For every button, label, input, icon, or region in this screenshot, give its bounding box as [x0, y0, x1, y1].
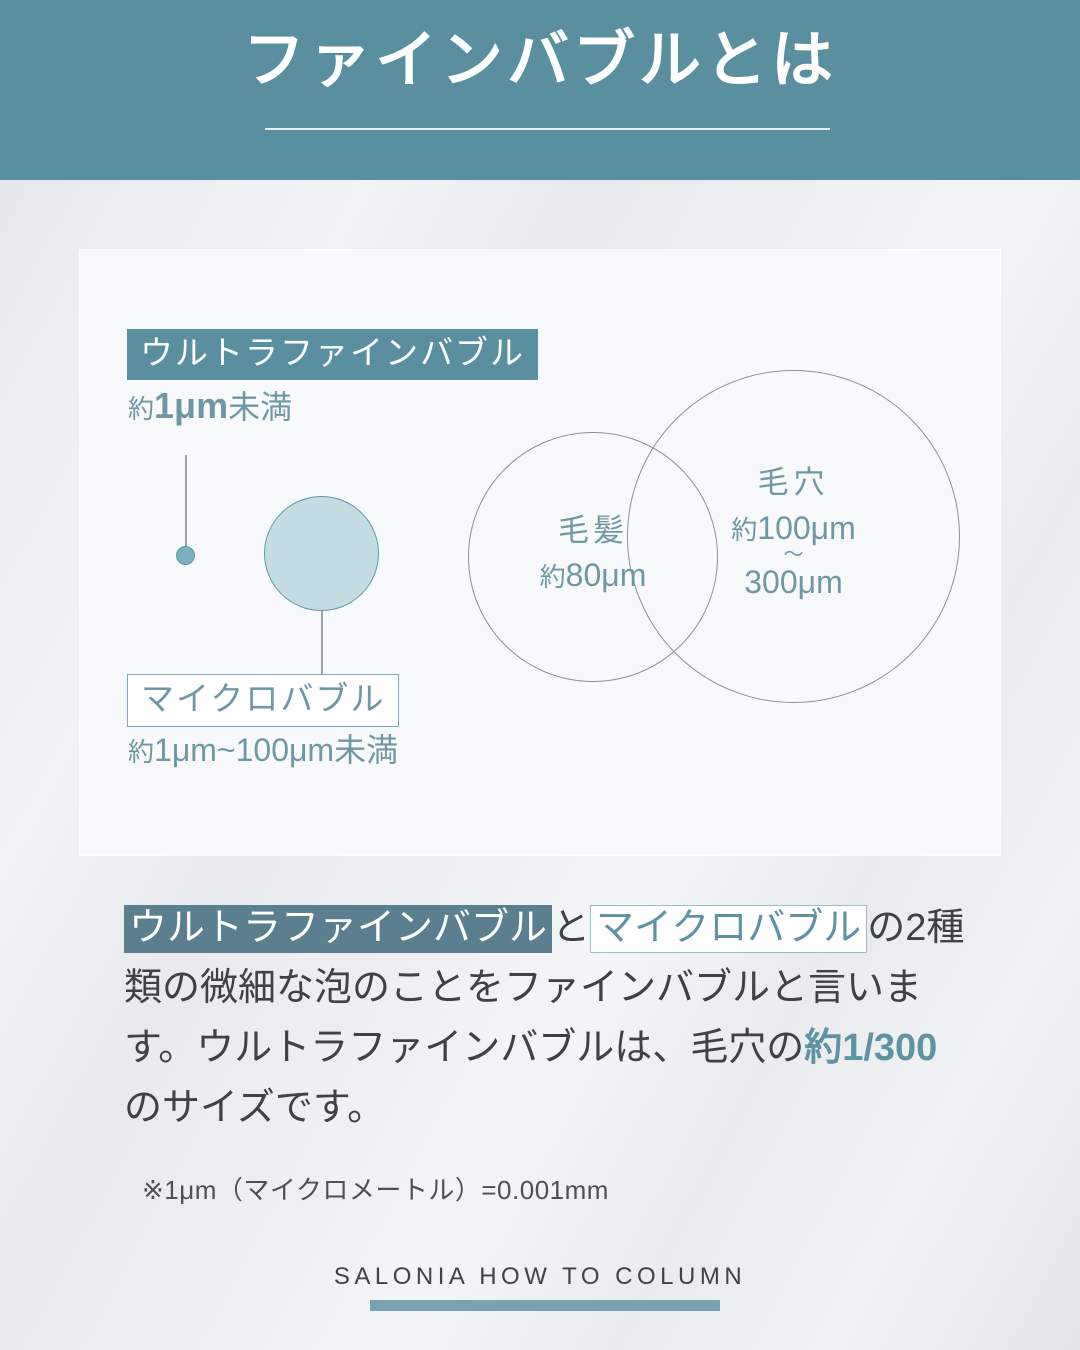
body-paragraph: ウルトラファインバブルとマイクロバブルの2種類の微細な泡のことをファインバブルと… [124, 898, 974, 1138]
inline-tag-micro: マイクロバブル [590, 905, 867, 953]
ultrafine-size-prefix: 約 [128, 394, 154, 424]
body-text-5: ズです。 [237, 1087, 385, 1129]
pore-label: 毛穴 [627, 466, 960, 500]
header-banner: ファインバブルとは [0, 0, 1080, 180]
body-text-3: ウルトラファインバブルは、毛穴の [196, 1027, 804, 1069]
ultrafine-size-value: 1μm [154, 385, 228, 426]
micro-bubble [264, 496, 379, 611]
body-text-1: の2種 [867, 907, 964, 949]
micro-size-prefix: 約 [128, 737, 154, 767]
pore-size-tilde: 〜 [627, 544, 960, 566]
ultrafine-size-suffix: 未満 [228, 389, 292, 425]
ultrafine-leader-line [185, 455, 187, 547]
hair-size-prefix: 約 [540, 562, 566, 592]
footnote-text: ※1μm（マイクロメートル）=0.001mm [142, 1170, 609, 1207]
infographic-page: ファインバブルとは 毛髪 約80μm 毛穴 約100μm〜300μm ウルトラフ… [0, 0, 1080, 1350]
micro-badge: マイクロバブル [127, 674, 399, 727]
page-title: ファインバブルとは [0, 28, 1080, 93]
body-accent-ratio: 約1/300 [804, 1027, 937, 1069]
diagram-panel: 毛髪 約80μm 毛穴 約100μm〜300μm ウルトラファインバブル 約1μ… [80, 250, 1000, 855]
ultrafine-badge: ウルトラファインバブル [127, 329, 538, 380]
micro-size-label: 約1μm~100μm未満 [128, 731, 398, 769]
footer-accent-bar [370, 1300, 720, 1311]
micro-size-suffix: 未満 [334, 732, 398, 768]
body-connector: と [552, 907, 590, 949]
pore-size-line2: 300μm [744, 564, 842, 600]
pore-size-line1: 100μm [757, 510, 855, 546]
pore-size-prefix: 約 [731, 515, 757, 545]
footer-label: SALONIA HOW TO COLUMN [0, 1263, 1080, 1291]
ultrafine-bubble [176, 546, 195, 565]
body-text-4: のサイ [124, 1087, 237, 1129]
micro-size-value: 1μm~100μm [154, 732, 334, 768]
ultrafine-size-label: 約1μm未満 [128, 384, 292, 427]
inline-tag-ultrafine: ウルトラファインバブル [124, 905, 552, 953]
pore-size-label: 約100μm〜300μm [627, 512, 960, 598]
title-underline [265, 128, 830, 130]
